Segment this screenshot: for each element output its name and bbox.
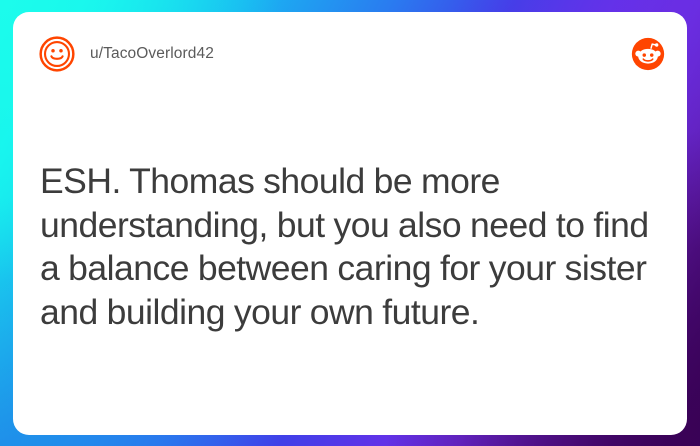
avatar[interactable] bbox=[38, 35, 76, 73]
comment-text: ESH. Thomas should be more understanding… bbox=[40, 160, 663, 334]
reddit-snoo-icon bbox=[631, 37, 665, 71]
reddit-logo[interactable] bbox=[631, 37, 665, 71]
smiley-face-icon bbox=[38, 35, 76, 73]
card-header: u/TacoOverlord42 bbox=[13, 12, 687, 96]
screenshot-canvas: u/TacoOverlord42 bbox=[0, 0, 700, 446]
username-label: u/TacoOverlord42 bbox=[90, 45, 214, 63]
reddit-comment-card: u/TacoOverlord42 bbox=[13, 12, 687, 435]
